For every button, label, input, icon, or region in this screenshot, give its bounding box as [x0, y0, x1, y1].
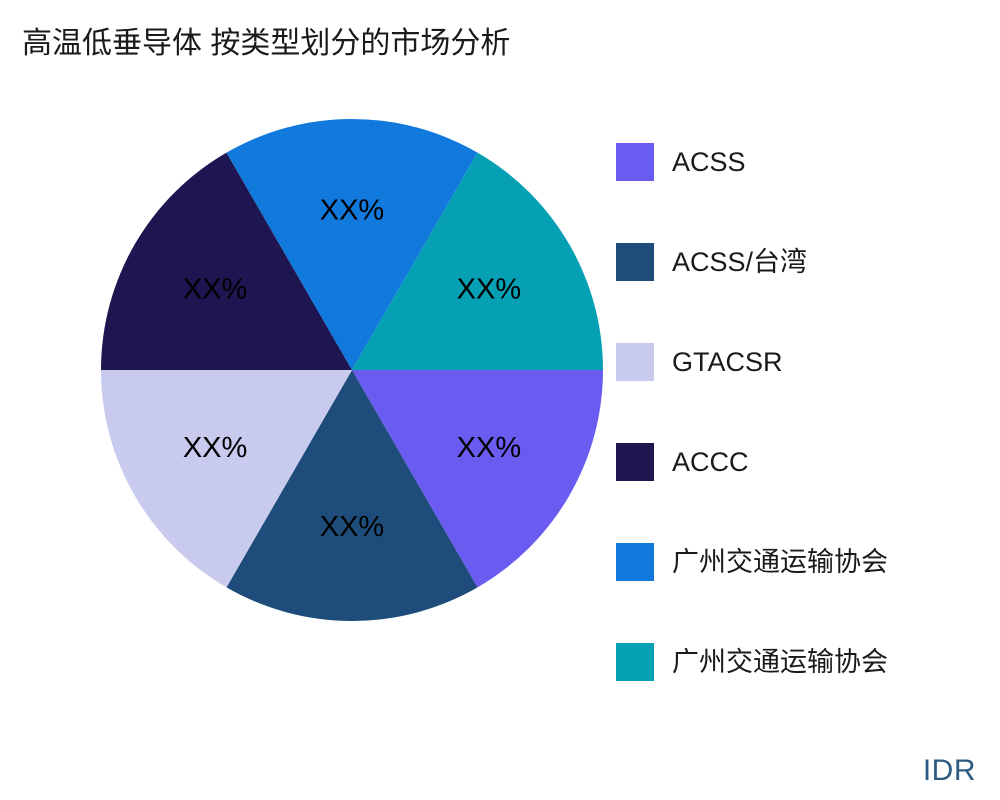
legend-color-swatch	[616, 543, 654, 581]
legend-color-swatch	[616, 143, 654, 181]
pie-slice-label: XX%	[457, 274, 521, 306]
legend-item[interactable]: GTACSR	[616, 312, 996, 412]
legend: ACSSACSS/台湾GTACSRACCC广州交通运输协会广州交通运输协会	[616, 112, 996, 712]
pie-slice-label: XX%	[183, 432, 247, 464]
legend-item-label: GTACSR	[672, 346, 783, 378]
pie-slice-label: XX%	[320, 195, 384, 227]
legend-item-label: ACSS	[672, 146, 746, 178]
legend-color-swatch	[616, 343, 654, 381]
legend-item-label: ACSS/台湾	[672, 246, 807, 278]
legend-item[interactable]: 广州交通运输协会	[616, 612, 996, 712]
legend-item[interactable]: 广州交通运输协会	[616, 512, 996, 612]
legend-item-label: 广州交通运输协会	[672, 546, 888, 578]
pie-slice-label: XX%	[320, 511, 384, 543]
legend-item-label: ACCC	[672, 446, 749, 478]
legend-color-swatch	[616, 443, 654, 481]
legend-item[interactable]: ACSS/台湾	[616, 212, 996, 312]
idr-watermark: IDR	[923, 754, 976, 788]
pie-slice-label: XX%	[183, 274, 247, 306]
pie-chart-svg: XX%XX%XX%XX%XX%XX%	[0, 0, 620, 700]
pie-chart: XX%XX%XX%XX%XX%XX%	[0, 0, 620, 700]
chart-page: 高温低垂导体 按类型划分的市场分析 XX%XX%XX%XX%XX%XX% ACS…	[0, 0, 1000, 800]
legend-item[interactable]: ACSS	[616, 112, 996, 212]
legend-color-swatch	[616, 643, 654, 681]
legend-color-swatch	[616, 243, 654, 281]
legend-item-label: 广州交通运输协会	[672, 646, 888, 678]
legend-item[interactable]: ACCC	[616, 412, 996, 512]
pie-slice-label: XX%	[457, 432, 521, 464]
